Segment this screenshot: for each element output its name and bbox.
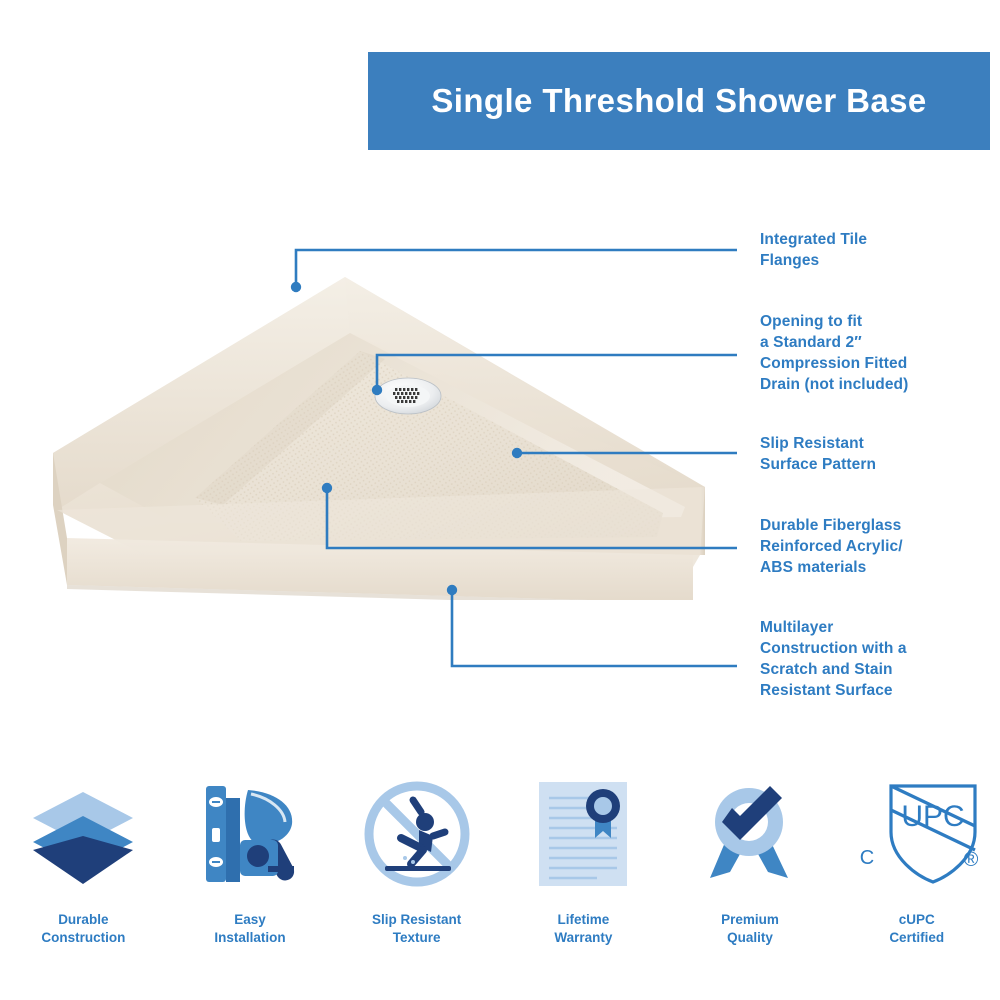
- feature-slip-resistant-texture: Slip Resistant Texture: [333, 775, 500, 946]
- feature-label: Lifetime Warranty: [554, 911, 612, 946]
- layers-icon: [29, 775, 137, 893]
- upc-shield-icon: UPC C ®: [851, 775, 983, 893]
- no-slip-icon: [361, 775, 473, 893]
- callout-drain-opening: Opening to fit a Standard 2″ Compression…: [760, 312, 908, 396]
- callout-integrated-tile-flanges: Integrated Tile Flanges: [760, 230, 867, 272]
- feature-cupc-certified: UPC C ® cUPC Certified: [833, 775, 1000, 946]
- trowel-level-tape-icon: [196, 775, 304, 893]
- shield-registered-mark: ®: [963, 849, 978, 871]
- feature-label: Easy Installation: [214, 911, 285, 946]
- feature-icon-row: Durable Construction: [0, 775, 1000, 975]
- feature-lifetime-warranty: Lifetime Warranty: [500, 775, 667, 946]
- shield-upc-text: UPC: [901, 800, 964, 833]
- callout-slip-resistant-surface: Slip Resistant Surface Pattern: [760, 434, 876, 476]
- feature-label: Premium Quality: [721, 911, 779, 946]
- callout-durable-materials: Durable Fiberglass Reinforced Acrylic/ A…: [760, 516, 903, 579]
- ribbon-check-icon: [696, 775, 804, 893]
- certificate-icon: [531, 775, 635, 893]
- feature-label: Slip Resistant Texture: [372, 911, 461, 946]
- shield-c-prefix: C: [859, 847, 873, 869]
- feature-premium-quality: Premium Quality: [667, 775, 834, 946]
- infographic-canvas: Single Threshold Shower Base: [0, 0, 1000, 1000]
- feature-durable-construction: Durable Construction: [0, 775, 167, 946]
- feature-label: cUPC Certified: [889, 911, 944, 946]
- callout-multilayer-construction: Multilayer Construction with a Scratch a…: [760, 618, 907, 702]
- feature-label: Durable Construction: [41, 911, 125, 946]
- feature-easy-installation: Easy Installation: [167, 775, 334, 946]
